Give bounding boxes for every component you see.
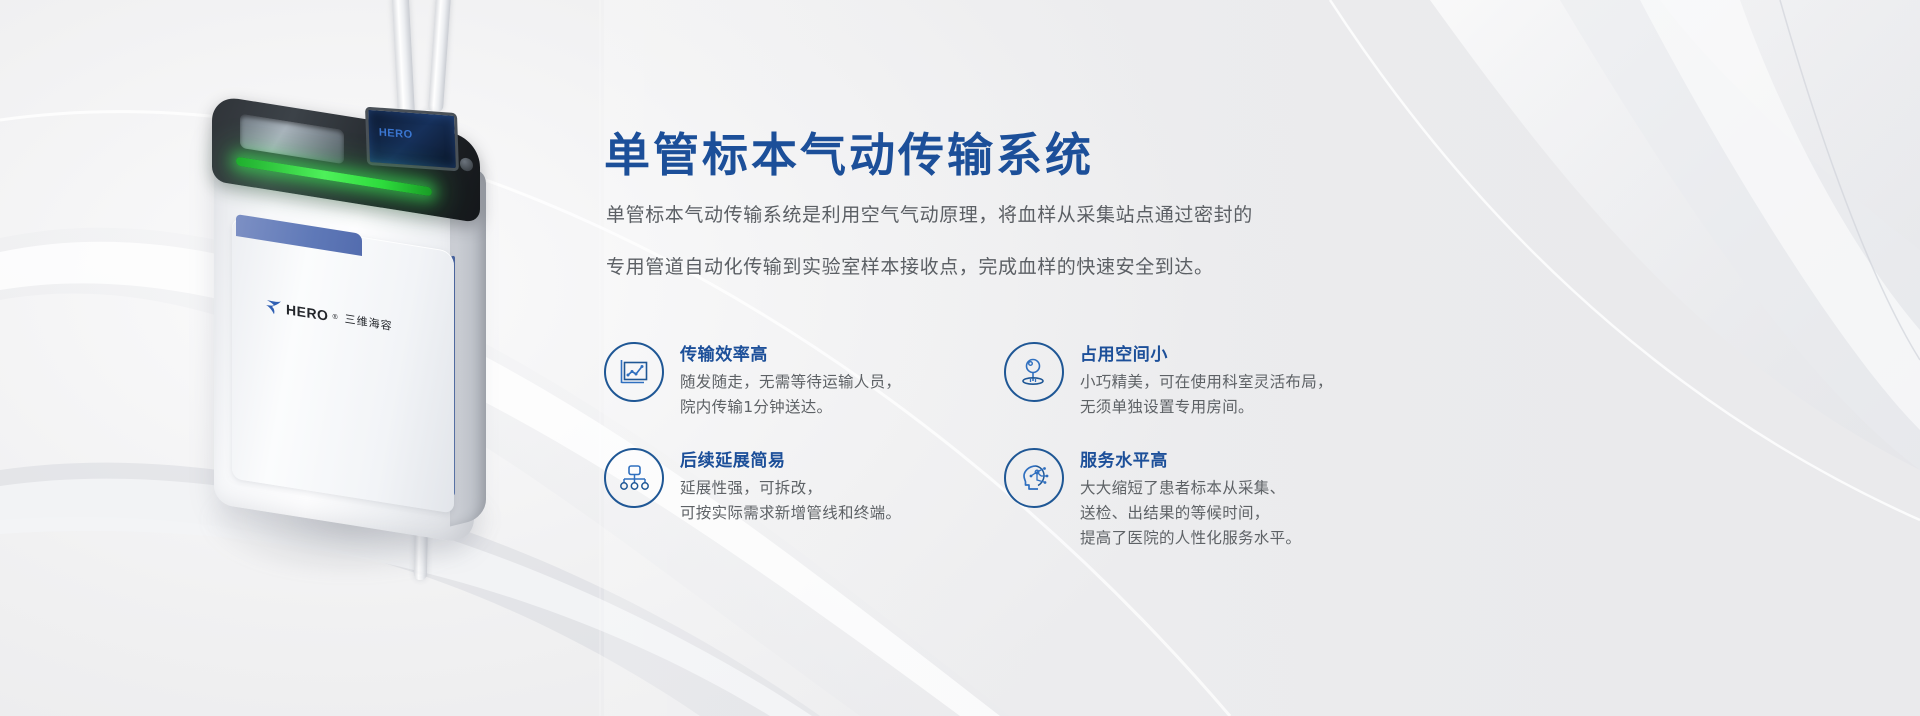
product-image: HERO HERO ® 三维海容 <box>0 0 600 716</box>
feature-item: 后续延展简易 延展性强，可拆改， 可按实际需求新增管线和终端。 <box>604 444 1004 551</box>
pneumatic-tube-icon <box>428 0 451 112</box>
feature-list: 传输效率高 随发随走，无需等待运输人员， 院内传输1分钟送达。 <box>604 338 1664 551</box>
product-banner: HERO HERO ® 三维海容 单管标本气动传输系统 单管标本气动传输系统是利… <box>0 0 1920 716</box>
smart-head-icon <box>1004 448 1064 508</box>
feature-item: 服务水平高 大大缩短了患者标本从采集、 送检、出结果的等候时间， 提高了医院的人… <box>1004 444 1404 551</box>
device-display: HERO <box>365 107 459 172</box>
pneumatic-station-device: HERO HERO ® 三维海容 <box>188 108 518 528</box>
chart-growth-icon <box>604 342 664 402</box>
feature-line: 大大缩短了患者标本从采集、 <box>1080 476 1301 501</box>
feature-title: 传输效率高 <box>680 340 901 365</box>
feature-item: 占用空间小 小巧精美，可在使用科室灵活布局， 无须单独设置专用房间。 <box>1004 338 1404 420</box>
feature-line: 小巧精美，可在使用科室灵活布局， <box>1080 370 1333 395</box>
feature-line: 随发随走，无需等待运输人员， <box>680 370 901 395</box>
brand-registered-mark: ® <box>332 313 337 321</box>
feature-text: 传输效率高 随发随走，无需等待运输人员， 院内传输1分钟送达。 <box>680 338 901 420</box>
product-description: 单管标本气动传输系统是利用空气气动原理，将血样从采集站点通过密封的专用管道自动化… <box>606 189 1266 293</box>
hero-swoosh-icon <box>266 298 282 316</box>
feature-line: 延展性强，可拆改， <box>680 476 901 501</box>
device-display-logo: HERO <box>379 127 413 141</box>
feature-title: 占用空间小 <box>1080 340 1333 365</box>
feature-text: 后续延展简易 延展性强，可拆改， 可按实际需求新增管线和终端。 <box>680 444 901 526</box>
pneumatic-tube-icon <box>392 0 416 122</box>
device-drawer <box>232 216 454 513</box>
space-pin-icon <box>1004 342 1064 402</box>
feature-text: 占用空间小 小巧精美，可在使用科室灵活布局， 无须单独设置专用房间。 <box>1080 338 1333 420</box>
page-title: 单管标本气动传输系统 <box>604 119 1094 185</box>
feature-title: 后续延展简易 <box>680 446 901 471</box>
network-tree-icon <box>604 448 664 508</box>
feature-title: 服务水平高 <box>1080 446 1301 471</box>
feature-line: 无须单独设置专用房间。 <box>1080 395 1333 420</box>
banner-content: 单管标本气动传输系统 单管标本气动传输系统是利用空气气动原理，将血样从采集站点通… <box>604 0 1704 716</box>
feature-line: 院内传输1分钟送达。 <box>680 395 901 420</box>
feature-line: 可按实际需求新增管线和终端。 <box>680 501 901 526</box>
feature-item: 传输效率高 随发随走，无需等待运输人员， 院内传输1分钟送达。 <box>604 338 1004 420</box>
feature-text: 服务水平高 大大缩短了患者标本从采集、 送检、出结果的等候时间， 提高了医院的人… <box>1080 444 1301 551</box>
feature-line: 提高了医院的人性化服务水平。 <box>1080 526 1301 551</box>
feature-line: 送检、出结果的等候时间， <box>1080 501 1301 526</box>
